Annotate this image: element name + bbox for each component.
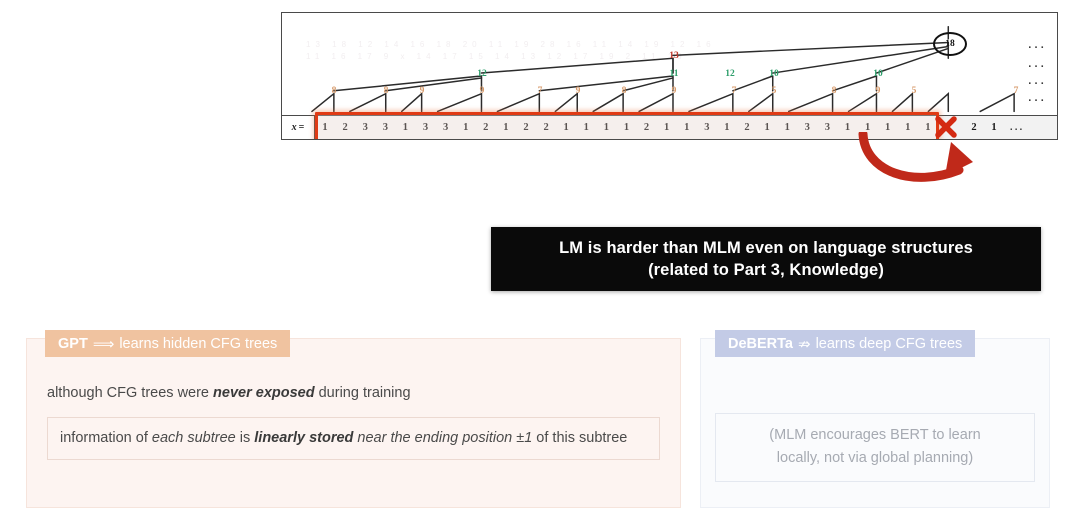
tree-node-l1-11: 9 — [876, 86, 881, 96]
deberta-boxed-statement: (MLM encourages BERT to learn locally, n… — [715, 413, 1035, 482]
tree-node-l1-13: 7 — [1014, 86, 1019, 96]
tree-node-l1-12: 5 — [912, 86, 917, 96]
deberta-panel-body: (MLM encourages BERT to learn locally, n… — [701, 373, 1049, 482]
figure-ellipsis-row-4: ... — [1028, 92, 1047, 104]
gpt-boxed-em1: each subtree — [152, 430, 236, 446]
gpt-header-rest: learns hidden CFG trees — [119, 336, 277, 352]
tree-node-l1-10: 8 — [832, 86, 837, 96]
tree-node-l1-2: 9 — [420, 86, 425, 96]
tree-node-l2-4: 10 — [873, 69, 883, 79]
implies-symbol-icon: ⟹ — [93, 335, 115, 353]
gpt-boxed-em3: position ±1 — [462, 430, 532, 446]
gpt-line1-b: during training — [315, 385, 411, 401]
tree-node-l1-6: 8 — [622, 86, 627, 96]
gpt-boxed-c: near the ending — [353, 430, 462, 446]
gpt-header-name: GPT — [58, 336, 88, 352]
sequence-token: 1 — [657, 116, 677, 139]
sequence-token: 1 — [576, 116, 596, 139]
sequence-token: 1 — [677, 116, 697, 139]
not-implies-symbol-icon: ⇏ — [798, 335, 811, 353]
sequence-token: 2 — [737, 116, 757, 139]
gpt-panel: GPT ⟹ learns hidden CFG trees although C… — [26, 338, 681, 508]
sequence-token: 3 — [436, 116, 456, 139]
deberta-boxed-line-1: (MLM encourages BERT to learn — [726, 424, 1024, 447]
banner-line-1: LM is harder than MLM even on language s… — [559, 237, 973, 259]
gpt-panel-body: although CFG trees were never exposed du… — [27, 373, 680, 460]
figure-ellipsis-row-2: ... — [1028, 58, 1047, 70]
tree-node-l1-1: 8 — [384, 86, 389, 96]
gpt-panel-header: GPT ⟹ learns hidden CFG trees — [45, 330, 290, 357]
sequence-token: 3 — [375, 116, 395, 139]
gpt-boxed-em2: linearly stored — [254, 430, 353, 446]
root-circle-annotation — [933, 32, 967, 56]
tree-node-l1-9: 5 — [772, 86, 777, 96]
tree-node-l1-7: 9 — [672, 86, 677, 96]
deberta-header-name: DeBERTa — [728, 336, 793, 352]
sequence-token: 1 — [596, 116, 616, 139]
sequence-token: 3 — [697, 116, 717, 139]
x-equals-label: x = — [282, 116, 315, 139]
sequence-ellipsis: ... — [1004, 116, 1030, 139]
sequence-token: 1 — [496, 116, 516, 139]
gpt-statement-line: although CFG trees were never exposed du… — [47, 383, 660, 403]
sequence-token: 3 — [415, 116, 435, 139]
callout-banner: LM is harder than MLM even on language s… — [491, 227, 1041, 291]
gpt-boxed-b: is — [236, 430, 255, 446]
figure-ellipsis-row-1: ... — [1028, 39, 1047, 51]
figure-ellipsis-row-3: ... — [1028, 75, 1047, 87]
deberta-boxed-line-2: locally, not via global planning) — [726, 447, 1024, 470]
sequence-token: 1 — [616, 116, 636, 139]
sequence-token: 2 — [335, 116, 355, 139]
sequence-token: 1 — [395, 116, 415, 139]
tree-node-l1-8: 7 — [732, 86, 737, 96]
gpt-boxed-statement: information of each subtree is linearly … — [47, 417, 660, 460]
tree-node-l2-3: 10 — [769, 69, 779, 79]
gpt-boxed-a: information of — [60, 430, 152, 446]
sequence-token: 1 — [717, 116, 737, 139]
tree-node-l2-2: 12 — [725, 69, 735, 79]
deberta-header-rest: learns deep CFG trees — [816, 336, 963, 352]
cfg-tree-figure: 13 18 12 14 16 18 20 11 19 28 16 11 14 1… — [281, 12, 1058, 140]
sequence-token: 2 — [536, 116, 556, 139]
tree-node-l2-0: 12 — [477, 69, 487, 79]
gpt-boxed-d: of this subtree — [532, 430, 627, 446]
tree-node-l1-0: 8 — [332, 86, 337, 96]
deberta-panel-header: DeBERTa ⇏ learns deep CFG trees — [715, 330, 975, 357]
sequence-token: 1 — [556, 116, 576, 139]
sequence-token: 1 — [456, 116, 476, 139]
tree-node-l1-3: 9 — [480, 86, 485, 96]
tree-node-l3-0: 13 — [669, 51, 679, 61]
sequence-token: 3 — [355, 116, 375, 139]
sequence-token: 2 — [637, 116, 657, 139]
sequence-token: 1 — [315, 116, 335, 139]
figure-inner: 13 18 12 14 16 18 20 11 19 28 16 11 14 1… — [282, 13, 1057, 139]
sequence-token: 3 — [797, 116, 817, 139]
tree-node-l1-5: 9 — [576, 86, 581, 96]
sequence-token: 1 — [777, 116, 797, 139]
banner-line-2: (related to Part 3, Knowledge) — [648, 259, 884, 281]
red-curved-arrow-icon — [855, 132, 1005, 194]
deberta-panel: DeBERTa ⇏ learns deep CFG trees (MLM enc… — [700, 338, 1050, 508]
sequence-token: 2 — [476, 116, 496, 139]
sequence-token: 1 — [757, 116, 777, 139]
tree-node-l2-1: 11 — [670, 69, 679, 79]
tree-node-l1-4: 7 — [538, 86, 543, 96]
gpt-line1-a: although CFG trees were — [47, 385, 213, 401]
sequence-token: 2 — [516, 116, 536, 139]
sequence-token: 3 — [817, 116, 837, 139]
gpt-line1-emphasis: never exposed — [213, 385, 315, 401]
